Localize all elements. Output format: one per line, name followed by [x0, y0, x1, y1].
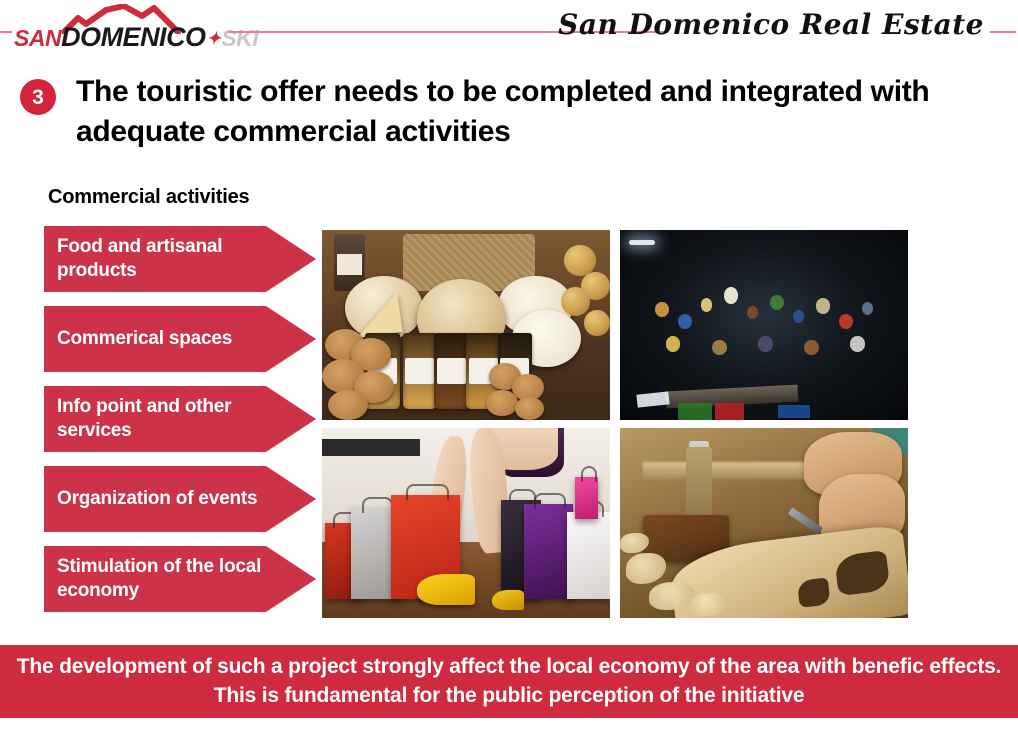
arrow-item-food[interactable]: Food and artisanal products — [44, 226, 316, 292]
logo-text-san: SAN — [14, 25, 61, 51]
brand-script-title: San Domenico Real Estate — [558, 8, 984, 41]
page-header: SANDOMENICO✦SKI San Domenico Real Estate — [0, 0, 1018, 56]
logo-text-ski: SKI — [221, 25, 258, 51]
arrow-label: Stimulation of the local economy — [44, 555, 316, 604]
commercial-activities-arrow-list: Food and artisanal products Commerical s… — [44, 226, 316, 626]
sandomenico-ski-logo[interactable]: SANDOMENICO✦SKI — [14, 4, 234, 50]
banner-text: The development of such a project strong… — [0, 653, 1018, 710]
slide-title-block: 3 The touristic offer needs to be comple… — [18, 72, 1008, 151]
wood-carving-photo — [620, 428, 908, 618]
section-heading: Commercial activities — [48, 186, 249, 209]
slide-number-badge: 3 — [20, 79, 56, 115]
page-title: The touristic offer needs to be complete… — [76, 72, 1008, 151]
concert-crowd-photo — [620, 230, 908, 420]
bottom-banner: The development of such a project strong… — [0, 645, 1018, 718]
logo-wordmark: SANDOMENICO✦SKI — [14, 24, 258, 51]
arrow-label: Commerical spaces — [44, 327, 276, 351]
photo-grid — [322, 230, 908, 618]
arrow-label: Organization of events — [44, 487, 301, 511]
header-rule-left-dash — [0, 31, 12, 33]
arrow-item-events[interactable]: Organization of events — [44, 466, 316, 532]
arrow-item-commercial-spaces[interactable]: Commerical spaces — [44, 306, 316, 372]
star-icon: ✦ — [206, 29, 222, 48]
header-rule-right-dash — [990, 31, 1016, 33]
arrow-item-info-point[interactable]: Info point and other services — [44, 386, 316, 452]
arrow-label: Food and artisanal products — [44, 235, 316, 284]
logo-text-domenico: DOMENICO — [61, 22, 206, 52]
shopping-bags-photo — [322, 428, 610, 618]
food-and-local-products-photo — [322, 230, 610, 420]
arrow-label: Info point and other services — [44, 395, 316, 444]
arrow-item-local-economy[interactable]: Stimulation of the local economy — [44, 546, 316, 612]
